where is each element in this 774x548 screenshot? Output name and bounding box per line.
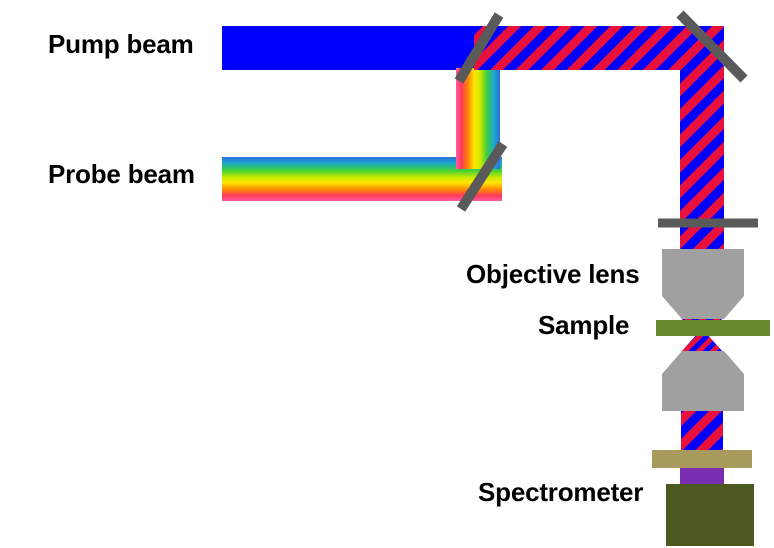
detection-beam-vertical: [681, 410, 723, 452]
label-probe-beam: Probe beam: [48, 159, 195, 190]
sample-layer: [656, 320, 770, 336]
label-pump-beam: Pump beam: [48, 29, 194, 60]
spectrometer-entrance-slit: [680, 468, 724, 484]
label-sample: Sample: [538, 310, 629, 341]
figure-canvas: Pump beam Probe beam Objective lens Samp…: [0, 0, 774, 548]
combined-beam-horizontal: [474, 26, 724, 70]
objective-lens-lower: [662, 351, 744, 411]
label-objective-lens: Objective lens: [466, 259, 640, 290]
pump-beam: [222, 26, 476, 70]
spectrometer-body: [666, 484, 754, 546]
label-spectrometer: Spectrometer: [478, 477, 643, 508]
optical-setup-diagram: [0, 0, 774, 548]
objective-lens-upper: [662, 249, 744, 319]
long-pass-filter: [652, 450, 752, 468]
